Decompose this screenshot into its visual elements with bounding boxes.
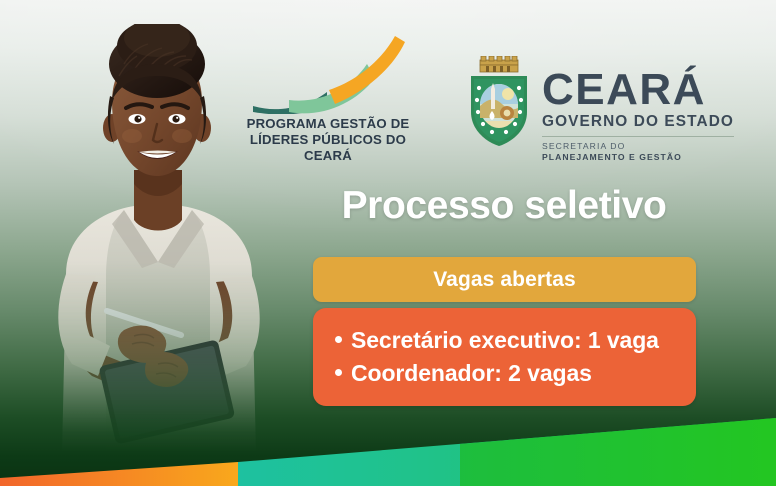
vacancy-label: Secretário executivo: 1 vaga [351,324,659,357]
list-item: Coordenador: 2 vagas [335,357,696,390]
page-title: Processo seletivo [312,186,696,227]
secretaria-line-2: PLANEJAMENTO E GESTÃO [542,152,734,163]
bright-green-band [460,418,776,486]
secretaria-line-1: SECRETARIA DO [542,141,734,152]
governo-do-estado-subtitle: GOVERNO DO ESTADO [542,113,734,131]
vagas-abertas-badge: Vagas abertas [313,257,696,302]
gov-logo-wordmark: CEARÁ GOVERNO DO ESTADO SECRETARIA DO PL… [542,56,734,162]
promotional-banner: PROGRAMA GESTÃO DE LÍDERES PÚBLICOS DO C… [0,0,776,486]
list-item: Secretário executivo: 1 vaga [335,324,696,357]
vagas-abertas-label: Vagas abertas [433,268,576,292]
governo-do-ceara-logo: CEARÁ GOVERNO DO ESTADO SECRETARIA DO PL… [466,56,734,162]
bottom-color-bands [0,416,776,486]
ceara-coat-of-arms-icon [466,56,532,148]
logo-divider [542,136,734,137]
programa-gestao-label: PROGRAMA GESTÃO DE LÍDERES PÚBLICOS DO C… [228,116,428,164]
programa-line-1: PROGRAMA GESTÃO DE [247,116,410,131]
ascending-arcs-icon [243,34,413,114]
vacancy-label: Coordenador: 2 vagas [351,357,592,390]
bullet-icon [335,369,342,376]
bullet-icon [335,336,342,343]
programa-gestao-logo: PROGRAMA GESTÃO DE LÍDERES PÚBLICOS DO C… [228,34,428,164]
ceara-title: CEARÁ [542,72,734,109]
vacancies-list: Secretário executivo: 1 vaga Coordenador… [313,308,696,406]
orange-band [0,462,238,486]
programa-line-2: LÍDERES PÚBLICOS DO CEARÁ [250,132,406,163]
